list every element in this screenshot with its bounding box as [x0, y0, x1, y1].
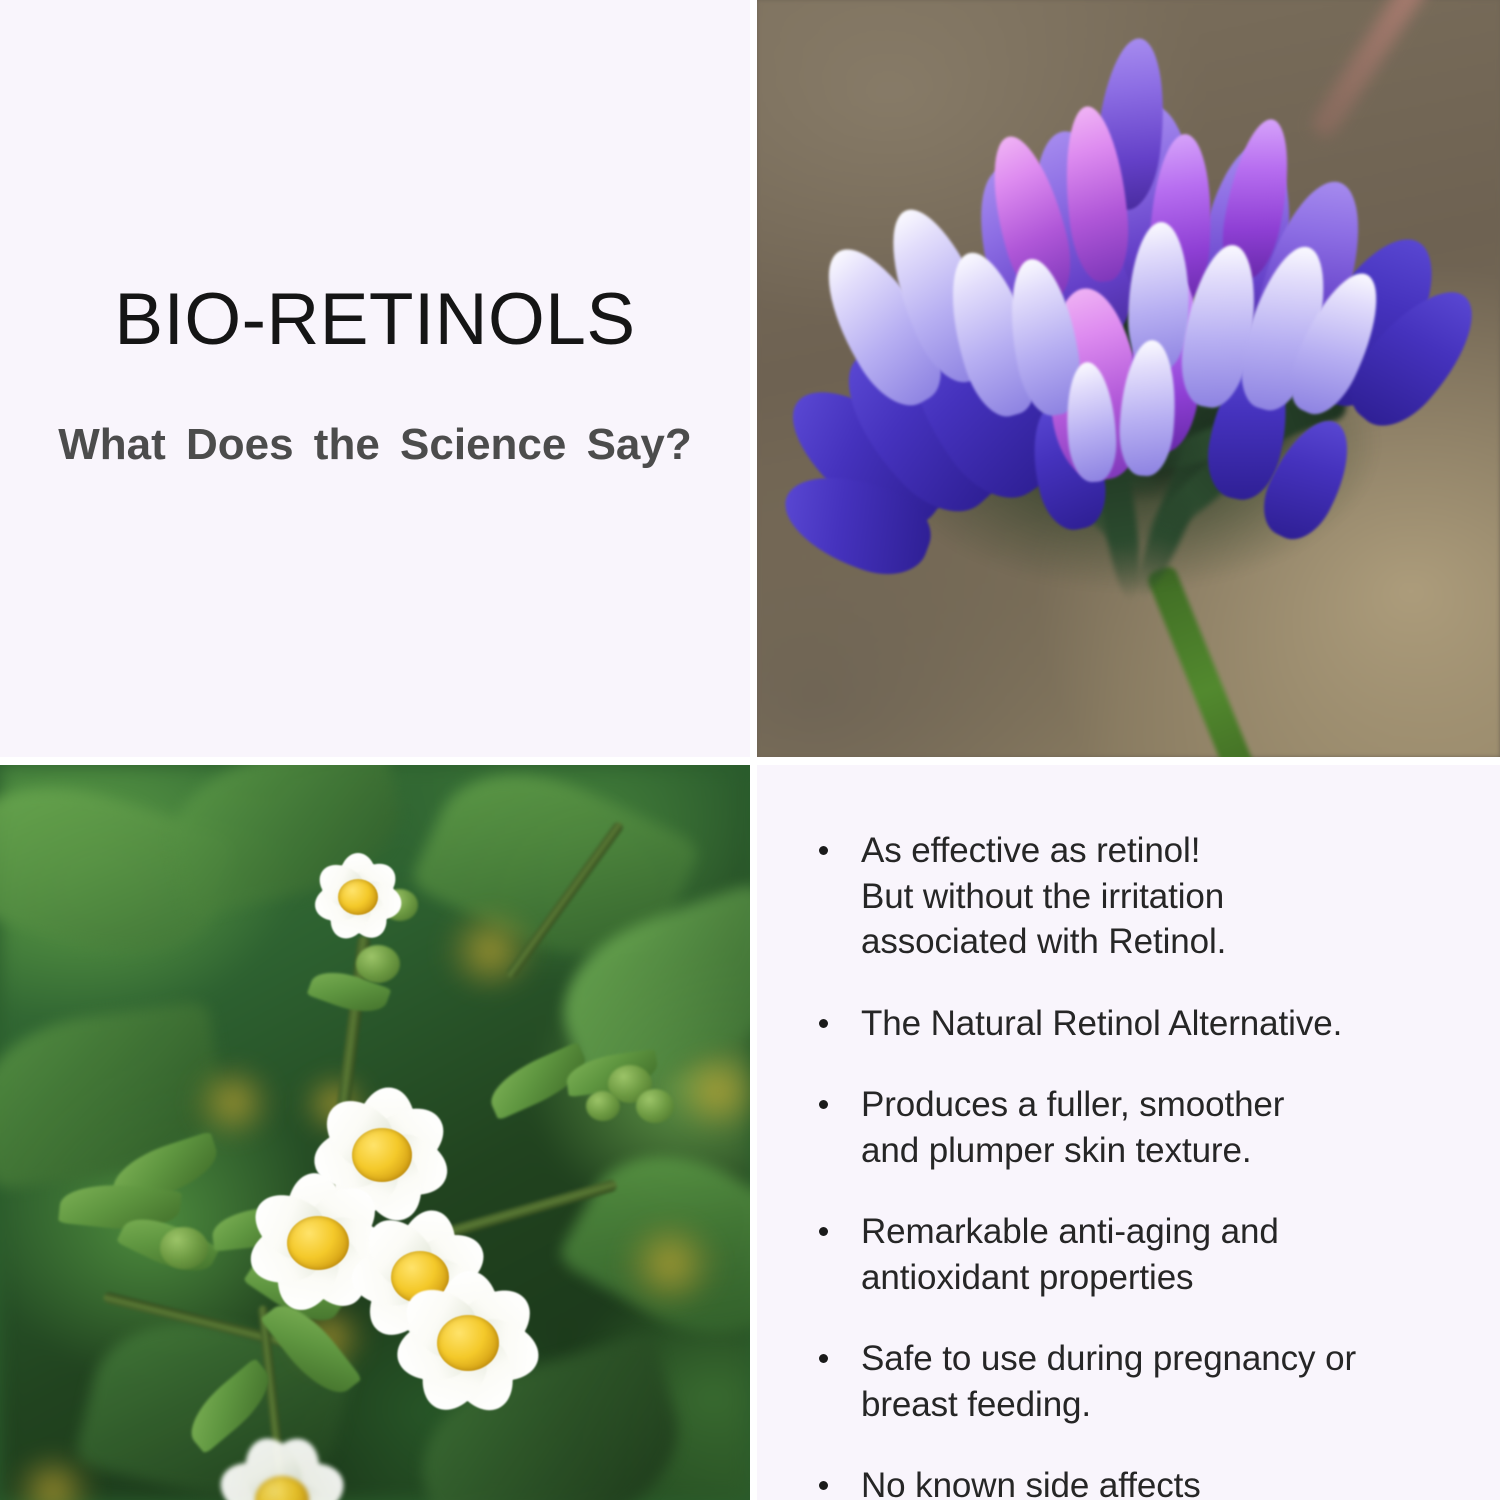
bullet-marker-icon [819, 1481, 828, 1490]
list-item-line: Produces a fuller, smoother [861, 1082, 1465, 1128]
list-item-line: breast feeding. [861, 1382, 1465, 1428]
list-item-line: antioxidant properties [861, 1255, 1465, 1301]
list-item: Produces a fuller, smoother and plumper … [805, 1082, 1465, 1173]
poster-canvas: BIO-RETINOLS What Does the Science Say? [0, 0, 1500, 1500]
bullet-marker-icon [819, 1100, 828, 1109]
list-item: Remarkable anti-aging and antioxidant pr… [805, 1209, 1465, 1300]
list-item-line: and plumper skin texture. [861, 1128, 1465, 1174]
clover-flower-head [799, 72, 1459, 632]
list-item: The Natural Retinol Alternative. [805, 1001, 1465, 1047]
list-item-line: Safe to use during pregnancy or [861, 1336, 1465, 1382]
white-daisy-flowers-photo [0, 765, 750, 1500]
bullet-marker-icon [819, 1354, 828, 1363]
list-item-line: No known side affects [861, 1463, 1465, 1500]
list-item-line: Remarkable anti-aging and [861, 1209, 1465, 1255]
page-title: BIO-RETINOLS [0, 283, 750, 356]
list-item-line: As effective as retinol! [861, 828, 1465, 874]
title-block: BIO-RETINOLS What Does the Science Say? [0, 283, 750, 467]
list-item: No known side affects [805, 1463, 1465, 1500]
title-panel: BIO-RETINOLS What Does the Science Say? [0, 0, 750, 757]
purple-clover-flower-photo [757, 0, 1500, 757]
list-item-line: associated with Retinol. [861, 919, 1465, 965]
list-item: Safe to use during pregnancy or breast f… [805, 1336, 1465, 1427]
bullet-marker-icon [819, 1019, 828, 1028]
page-subtitle: What Does the Science Say? [0, 423, 750, 467]
list-item: As effective as retinol! But without the… [805, 828, 1465, 965]
benefits-list: As effective as retinol! But without the… [805, 828, 1465, 1500]
bullet-marker-icon [819, 846, 828, 855]
bullet-marker-icon [819, 1227, 828, 1236]
benefits-panel: As effective as retinol! But without the… [757, 765, 1500, 1500]
list-item-line: But without the irritation [861, 874, 1465, 920]
list-item-line: The Natural Retinol Alternative. [861, 1001, 1465, 1047]
